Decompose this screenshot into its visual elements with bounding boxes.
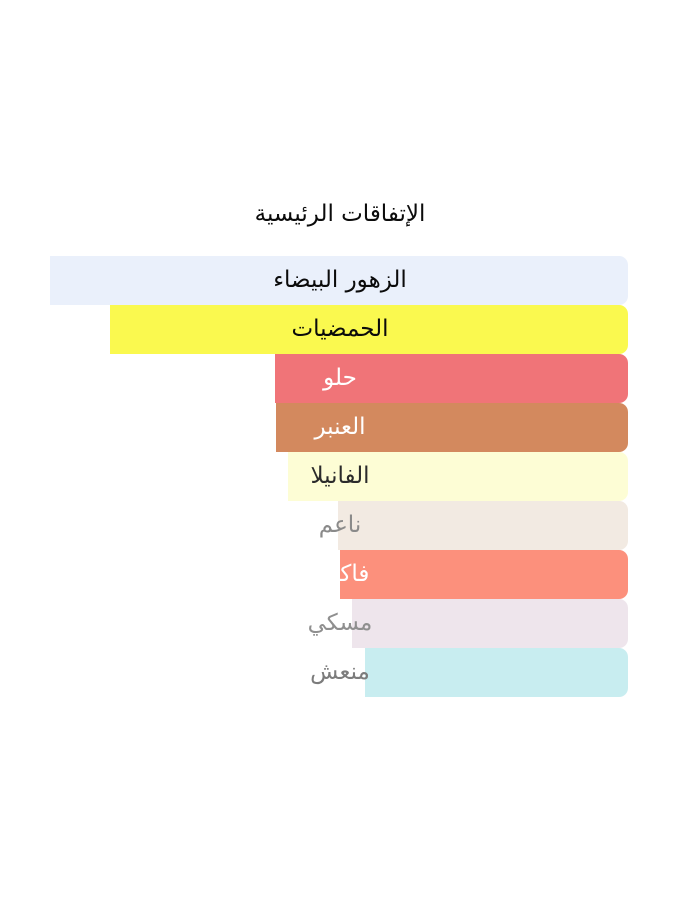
funnel-row[interactable]: ناعم bbox=[0, 501, 680, 550]
funnel-row[interactable]: مسكي bbox=[0, 599, 680, 648]
funnel-row[interactable]: العنبر bbox=[0, 403, 680, 452]
funnel-bar[interactable] bbox=[276, 403, 628, 452]
funnel-chart: الإتفاقات الرئيسية الزهور البيضاءالحمضيا… bbox=[0, 0, 680, 900]
funnel-bar[interactable] bbox=[340, 550, 628, 599]
funnel-bar[interactable] bbox=[50, 256, 628, 305]
funnel-row[interactable]: الزهور البيضاء bbox=[0, 256, 680, 305]
funnel-row[interactable]: فاكهي bbox=[0, 550, 680, 599]
funnel-bar[interactable] bbox=[352, 599, 628, 648]
chart-title: الإتفاقات الرئيسية bbox=[0, 199, 680, 229]
funnel-row[interactable]: الحمضيات bbox=[0, 305, 680, 354]
funnel-bar[interactable] bbox=[338, 501, 628, 550]
funnel-row[interactable]: الفانيلا bbox=[0, 452, 680, 501]
funnel-bar[interactable] bbox=[275, 354, 628, 403]
funnel-bar[interactable] bbox=[365, 648, 628, 697]
funnel-bar[interactable] bbox=[110, 305, 628, 354]
funnel-bar[interactable] bbox=[288, 452, 628, 501]
funnel-row[interactable]: حلو bbox=[0, 354, 680, 403]
funnel-row[interactable]: منعش bbox=[0, 648, 680, 697]
